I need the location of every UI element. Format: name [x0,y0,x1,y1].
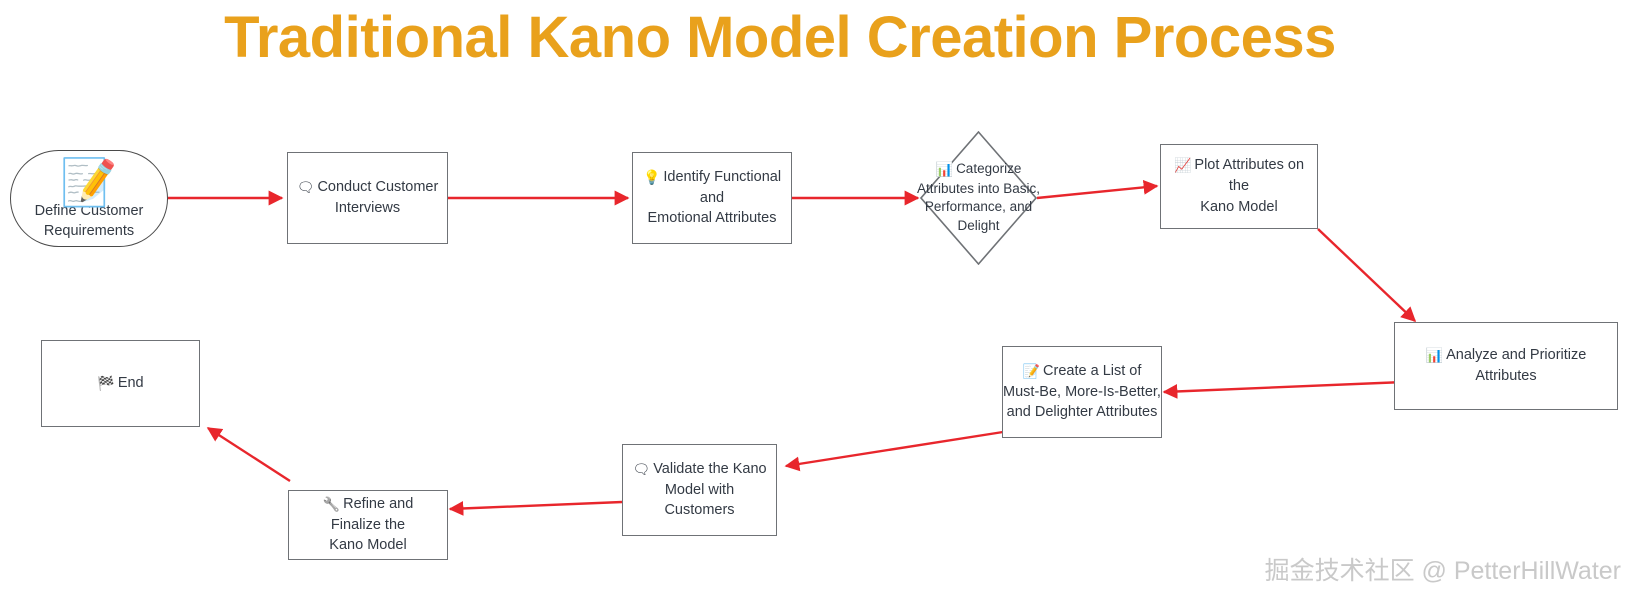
node-refine-label-line1: Refine and Finalize the [331,496,413,533]
node-plot-label-line1: Plot Attributes on the [1194,157,1304,194]
node-categorize-label-line4: Delight [957,218,999,233]
node-categorize-label-line2: Attributes into Basic, [917,181,1040,196]
node-validate-kano-model[interactable]: 🗨Validate the Kano Model with Customers [622,444,777,536]
node-plot-attributes-kano-model[interactable]: 📈Plot Attributes on the Kano Model [1160,144,1318,229]
node-validate-label-line2: Model with Customers [664,482,734,519]
node-categorize-attributes-decision[interactable]: 📊Categorize Attributes into Basic, Perfo… [920,131,1037,265]
node-define-label-line2: Requirements [44,223,134,239]
node-end[interactable]: 🏁End [41,340,200,427]
node-create-list-attributes[interactable]: 📝Create a List of Must-Be, More-Is-Bette… [1002,346,1162,438]
speech-balloon-icon: 🗨 [632,461,650,477]
node-interviews-label-line1: Conduct Customer [317,179,438,195]
memo-icon: 📝 [1023,363,1040,379]
node-categorize-label-line1: Categorize [956,161,1021,176]
node-identify-label-line1: Identify Functional and [663,169,781,206]
watermark: 掘金技术社区 @ PetterHillWater [1265,551,1621,587]
node-interviews-label-line2: Interviews [335,200,400,216]
node-define-customer-requirements[interactable]: 📝 Define Customer Requirements [10,150,168,247]
node-categorize-label-line3: Performance, and [925,199,1032,214]
edge-validate-to-refine [450,502,622,509]
edge-categorize-to-plot [1037,186,1157,198]
node-conduct-customer-interviews[interactable]: 🗨Conduct Customer Interviews [287,152,448,244]
node-validate-label-line1: Validate the Kano [653,461,766,477]
node-refine-label-line2: Kano Model [329,537,406,553]
chart-increasing-icon: 📈 [1174,157,1191,173]
node-analyze-prioritize-attributes[interactable]: 📊Analyze and Prioritize Attributes [1394,322,1618,410]
bar-chart-icon: 📊 [1426,347,1443,363]
node-plot-label-line2: Kano Model [1200,199,1277,215]
node-end-label: End [118,375,144,391]
page-title: Traditional Kano Model Creation Process [0,4,1560,71]
node-refine-finalize-kano-model[interactable]: 🔧Refine and Finalize the Kano Model [288,490,448,560]
node-identify-functional-emotional-attributes[interactable]: 💡Identify Functional and Emotional Attri… [632,152,792,244]
edge-createlist-to-validate [786,432,1003,466]
bar-chart-icon: 📊 [936,161,953,177]
light-bulb-icon: 💡 [643,169,660,185]
node-createlist-label-line2: Must-Be, More-Is-Better, [1003,384,1161,400]
node-createlist-label-line3: and Delighter Attributes [1007,404,1158,420]
node-analyze-label-line2: Attributes [1475,368,1536,384]
edge-plot-to-analyze [1318,229,1415,321]
node-analyze-label-line1: Analyze and Prioritize [1446,347,1586,363]
flowchart-canvas: Traditional Kano Model Creation Process … [0,0,1635,597]
chequered-flag-icon: 🏁 [97,375,114,391]
wrench-icon: 🔧 [323,496,340,512]
speech-balloon-icon: 🗨 [297,179,315,195]
edge-refine-to-end [208,428,290,481]
memo-pencil-icon: 📝 [60,159,117,205]
node-createlist-label-line1: Create a List of [1043,363,1141,379]
node-identify-label-line2: Emotional Attributes [648,210,777,226]
edge-layer [0,0,1635,597]
